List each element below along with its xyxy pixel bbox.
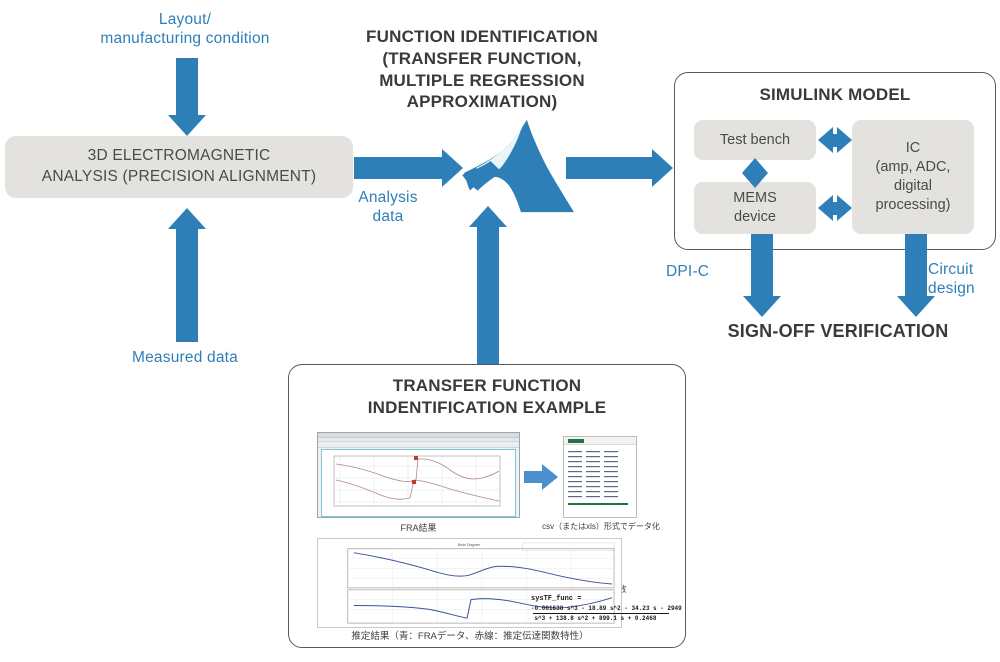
- matlab-to-simulink-arrow: [566, 148, 676, 188]
- arrow-head-down: [743, 296, 781, 317]
- layout-condition-line1: Layout/: [60, 10, 310, 29]
- mems-ic-bidir-arrow: [818, 194, 852, 222]
- csv-excel-thumbnail: [563, 436, 637, 518]
- simulink-block-test-bench[interactable]: Test bench: [694, 120, 816, 160]
- em-analysis-text: 3D ELECTROMAGNETIC ANALYSIS (PRECISION A…: [42, 146, 316, 188]
- measured-data-arrow: [160, 208, 214, 343]
- simulink-model-title: SIMULINK MODEL: [674, 84, 996, 106]
- measured-data-text: Measured data: [85, 348, 285, 367]
- measured-data-label: Measured data: [85, 348, 285, 367]
- title-line-1: FUNCTION IDENTIFICATION: [340, 26, 624, 48]
- dpi-c-label: DPI-C: [666, 262, 736, 281]
- arrow-shaft: [905, 234, 927, 298]
- arrow-head-right: [442, 149, 463, 187]
- example-title-line1: TRANSFER FUNCTION: [288, 375, 686, 397]
- fra-to-csv-arrow: [524, 462, 560, 492]
- fra-plot-area: [321, 449, 516, 517]
- analysis-data-line2: data: [345, 207, 431, 226]
- estimation-caption: 推定結果（青：FRAデータ、赤線：推定伝達関数特性）: [300, 628, 640, 642]
- fra-toolbar: [318, 442, 519, 448]
- title-line-4: APPROXIMATION): [340, 91, 624, 113]
- em-analysis-line2: ANALYSIS (PRECISION ALIGNMENT): [42, 167, 316, 188]
- excel-logo: [568, 439, 584, 443]
- em-to-matlab-arrow: [354, 148, 464, 188]
- arrow-shaft: [751, 234, 773, 298]
- em-analysis-line1: 3D ELECTROMAGNETIC: [42, 146, 316, 167]
- arrow-shaft: [176, 58, 198, 116]
- em-analysis-box[interactable]: 3D ELECTROMAGNETIC ANALYSIS (PRECISION A…: [5, 136, 353, 198]
- title-line-3: MULTIPLE REGRESSION: [340, 70, 624, 92]
- fra-result-thumbnail: [317, 432, 520, 518]
- formula-denominator: s^3 + 138.8 s^2 + 899.1 s + 0.2468: [531, 615, 660, 621]
- ic-line2: (amp, ADC,: [876, 158, 951, 177]
- simulink-title-text: SIMULINK MODEL: [759, 85, 910, 104]
- matlab-membrane-icon: [462, 116, 580, 220]
- formula-fraction-bar: [533, 613, 669, 614]
- csv-caption: csv（またはxls）形式でデータ化: [540, 521, 662, 532]
- dpi-c-text: DPI-C: [666, 263, 709, 280]
- mems-line1: MEMS: [733, 189, 777, 208]
- arrow-head-down: [742, 173, 768, 188]
- formula-numerator: -0.001638 s^3 - 18.89 s^2 - 34.23 s - 29…: [531, 605, 660, 611]
- testbench-mems-bidir-arrow: [741, 158, 769, 186]
- testbench-ic-bidir-arrow: [818, 126, 852, 154]
- mems-device-label: MEMS device: [733, 189, 777, 227]
- layout-condition-label: Layout/ manufacturing condition: [60, 10, 310, 49]
- formula-lead: sysTF_func =: [531, 595, 671, 603]
- simulink-block-mems-device[interactable]: MEMS device: [694, 182, 816, 234]
- analysis-data-line1: Analysis: [345, 188, 431, 207]
- fra-caption: FRA結果: [317, 521, 520, 534]
- circuit-design-line2: design: [928, 279, 1000, 298]
- excel-cells: [566, 449, 634, 511]
- arrow-shaft: [354, 157, 444, 179]
- dpic-down-arrow: [735, 234, 789, 324]
- ic-line1: IC: [876, 139, 951, 158]
- arrow-head-up: [469, 206, 507, 227]
- arrow-head-up: [168, 208, 206, 229]
- signoff-verification-title: SIGN-OFF VERIFICATION: [678, 320, 998, 343]
- svg-text:Bode Diagram: Bode Diagram: [458, 543, 480, 547]
- function-identification-title: FUNCTION IDENTIFICATION (TRANSFER FUNCTI…: [340, 26, 624, 113]
- circuit-design-line1: Circuit: [928, 260, 1000, 279]
- arrow-head-right: [837, 127, 852, 153]
- ic-label: IC (amp, ADC, digital processing): [876, 139, 951, 214]
- example-title-line2: INDENTIFICATION EXAMPLE: [288, 397, 686, 419]
- ic-line3: digital: [876, 177, 951, 196]
- arrow-shaft: [477, 226, 499, 368]
- transfer-function-formula: sysTF_func = -0.001638 s^3 - 18.89 s^2 -…: [531, 595, 671, 622]
- layout-to-em-arrow: [160, 58, 214, 136]
- arrow-shaft: [566, 157, 654, 179]
- title-line-2: (TRANSFER FUNCTION,: [340, 48, 624, 70]
- arrow-head-right: [652, 149, 673, 187]
- circuit-design-label: Circuit design: [928, 260, 1000, 299]
- ic-line4: processing): [876, 196, 951, 215]
- test-bench-label: Test bench: [720, 131, 790, 150]
- analysis-data-label: Analysis data: [345, 188, 431, 227]
- example-to-matlab-arrow: [461, 206, 515, 366]
- arrow-head-down: [168, 115, 206, 136]
- arrow-shaft: [176, 228, 198, 342]
- signoff-text: SIGN-OFF VERIFICATION: [728, 321, 949, 341]
- example-panel-title: TRANSFER FUNCTION INDENTIFICATION EXAMPL…: [288, 375, 686, 419]
- mems-line2: device: [733, 208, 777, 227]
- layout-condition-line2: manufacturing condition: [60, 29, 310, 48]
- arrow-head-down: [897, 296, 935, 317]
- arrow-head-right: [837, 195, 852, 221]
- simulink-block-ic[interactable]: IC (amp, ADC, digital processing): [852, 120, 974, 234]
